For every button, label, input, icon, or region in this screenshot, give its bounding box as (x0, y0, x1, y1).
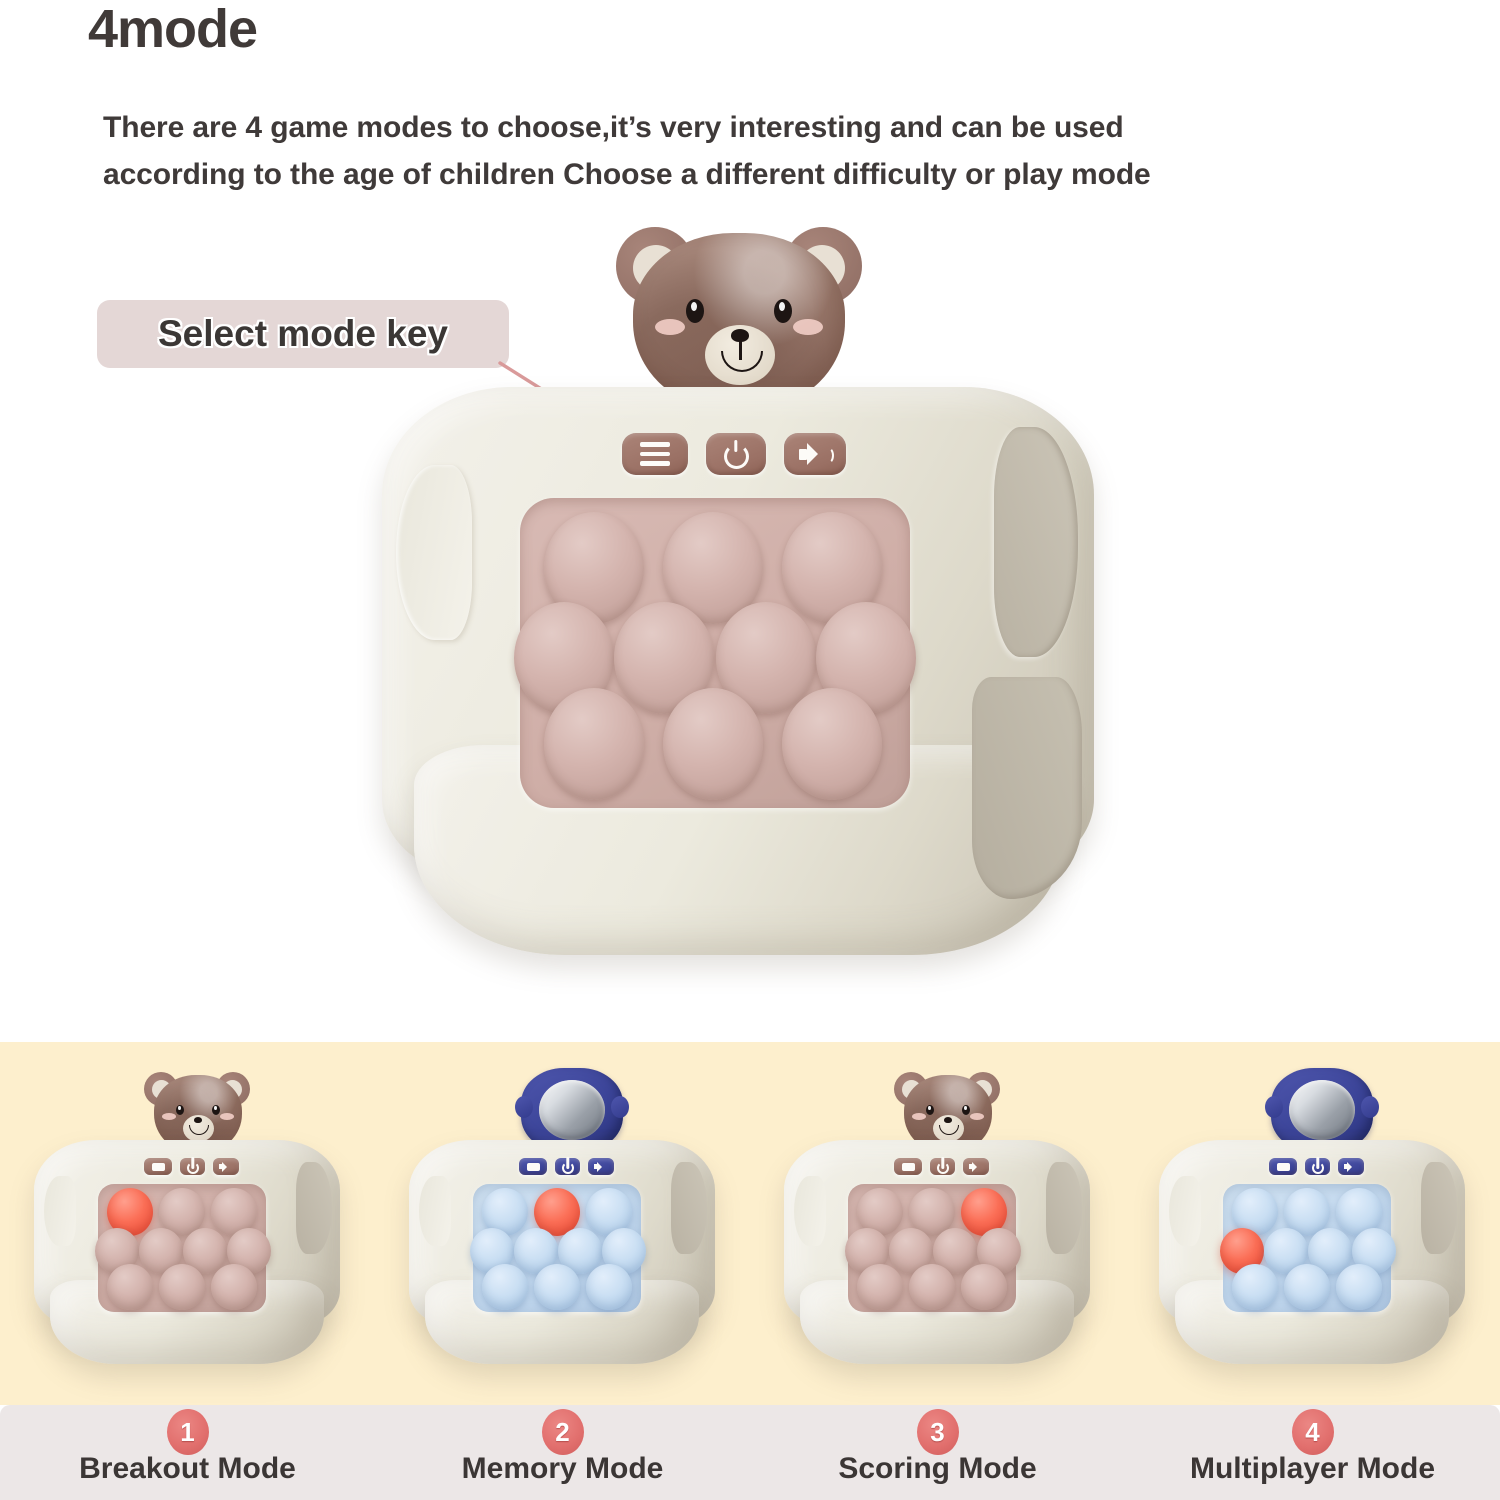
device-button-row (1269, 1158, 1364, 1175)
speaker-volume-icon (1344, 1162, 1358, 1172)
subtitle-line-2: according to the age of children Choose … (103, 151, 1433, 198)
mode-thumbnail-3[interactable] (750, 1042, 1125, 1405)
device-grip-left (794, 1176, 826, 1246)
mode-label-1: 1 Breakout Mode (0, 1405, 375, 1500)
bubble[interactable] (211, 1264, 257, 1310)
mode-name-4: Multiplayer Mode (1125, 1452, 1500, 1486)
device-grip-right-lower (972, 677, 1082, 899)
device-button-row (144, 1158, 239, 1175)
mode-badge-2: 2 (542, 1409, 584, 1455)
bubble[interactable] (857, 1264, 903, 1310)
mode-thumbnail-1[interactable] (0, 1042, 375, 1405)
device-grip-right (296, 1162, 332, 1254)
bubble[interactable] (107, 1264, 153, 1310)
helmet-knob-right (1361, 1096, 1379, 1118)
helmet-knob-left (1265, 1096, 1283, 1118)
mode-label-3: 3 Scoring Mode (750, 1405, 1125, 1500)
menu-list-icon (640, 442, 670, 447)
main-device (372, 215, 1102, 955)
bubble-panel (473, 1184, 641, 1312)
power-button[interactable] (706, 433, 766, 475)
bubble[interactable] (663, 688, 763, 800)
header: 4mode There are 4 game modes to choose,i… (0, 0, 1500, 215)
menu-button[interactable] (622, 433, 688, 475)
power-button[interactable] (555, 1158, 580, 1175)
power-icon (187, 1162, 199, 1174)
bubble-panel (1223, 1184, 1391, 1312)
device-button-row (622, 433, 846, 475)
mode-label-4: 4 Multiplayer Mode (1125, 1405, 1500, 1500)
device-grip-right (671, 1162, 707, 1254)
power-icon (724, 444, 749, 469)
power-icon (1312, 1162, 1324, 1174)
bubble-panel (98, 1184, 266, 1312)
bear-blush-right (793, 319, 823, 335)
bubble[interactable] (1284, 1264, 1330, 1310)
bubble[interactable] (534, 1264, 580, 1310)
device-grip-left (44, 1176, 76, 1246)
menu-button[interactable] (144, 1158, 172, 1175)
bear-muzzle (705, 325, 775, 385)
bear-eye-left (686, 299, 704, 323)
menu-list-icon (152, 1163, 165, 1171)
mode-badge-1: 1 (167, 1409, 209, 1455)
bubble[interactable] (782, 688, 882, 800)
volume-button[interactable] (963, 1158, 989, 1175)
bubble[interactable] (961, 1264, 1007, 1310)
helmet-knob-right (611, 1096, 629, 1118)
mode-thumbnail-4[interactable] (1125, 1042, 1500, 1405)
volume-button[interactable] (784, 433, 846, 475)
menu-list-icon (1277, 1163, 1290, 1171)
device-grip-right (1046, 1162, 1082, 1254)
device-grip-right (994, 427, 1078, 657)
device-grip-left (419, 1176, 451, 1246)
helmet-visor (1289, 1080, 1355, 1140)
bubble[interactable] (586, 1264, 632, 1310)
device-grip-left (1169, 1176, 1201, 1246)
mode-thumbnail-2[interactable] (375, 1042, 750, 1405)
device-button-row (894, 1158, 989, 1175)
menu-button[interactable] (894, 1158, 922, 1175)
menu-list-icon (527, 1163, 540, 1171)
bear-head (612, 215, 866, 415)
bubble-panel (520, 498, 910, 808)
device-button-row (519, 1158, 614, 1175)
page-subtitle: There are 4 game modes to choose,it’s ve… (103, 104, 1433, 199)
mode-badge-4: 4 (1292, 1409, 1334, 1455)
page-title: 4mode (88, 2, 257, 56)
bubble[interactable] (159, 1264, 205, 1310)
volume-button[interactable] (588, 1158, 614, 1175)
menu-list-icon (902, 1163, 915, 1171)
menu-button[interactable] (519, 1158, 547, 1175)
power-icon (562, 1162, 574, 1174)
mode-name-2: Memory Mode (375, 1452, 750, 1486)
bubble[interactable] (909, 1264, 955, 1310)
menu-button[interactable] (1269, 1158, 1297, 1175)
bear-mouth-curve (721, 351, 763, 372)
bubble[interactable] (1232, 1264, 1278, 1310)
bubble-panel (848, 1184, 1016, 1312)
hero-section: Select mode key (0, 215, 1500, 1042)
bear-face (633, 233, 845, 411)
speaker-volume-icon (219, 1162, 233, 1172)
speaker-volume-icon (969, 1162, 983, 1172)
bear-muzzle (933, 1115, 964, 1142)
mode-badge-3: 3 (917, 1409, 959, 1455)
bear-blush-left (655, 319, 685, 335)
power-button[interactable] (930, 1158, 955, 1175)
volume-button[interactable] (1338, 1158, 1364, 1175)
mode-name-1: Breakout Mode (0, 1452, 375, 1486)
speaker-volume-icon (799, 443, 831, 465)
power-button[interactable] (180, 1158, 205, 1175)
helmet-visor (539, 1080, 605, 1140)
power-button[interactable] (1305, 1158, 1330, 1175)
bubble[interactable] (544, 688, 644, 800)
bubble[interactable] (1336, 1264, 1382, 1310)
bear-muzzle (183, 1115, 214, 1142)
mode-label-strip: 1 Breakout Mode 2 Memory Mode 3 Scoring … (0, 1405, 1500, 1500)
device-grip-left (396, 465, 472, 640)
power-icon (937, 1162, 949, 1174)
device-grip-right (1421, 1162, 1457, 1254)
volume-button[interactable] (213, 1158, 239, 1175)
mode-thumbnail-strip (0, 1042, 1500, 1405)
subtitle-line-1: There are 4 game modes to choose,it’s ve… (103, 104, 1433, 151)
mode-label-2: 2 Memory Mode (375, 1405, 750, 1500)
mode-name-3: Scoring Mode (750, 1452, 1125, 1486)
helmet-knob-left (515, 1096, 533, 1118)
bubble[interactable] (482, 1264, 528, 1310)
speaker-volume-icon (594, 1162, 608, 1172)
bear-eye-right (774, 299, 792, 323)
